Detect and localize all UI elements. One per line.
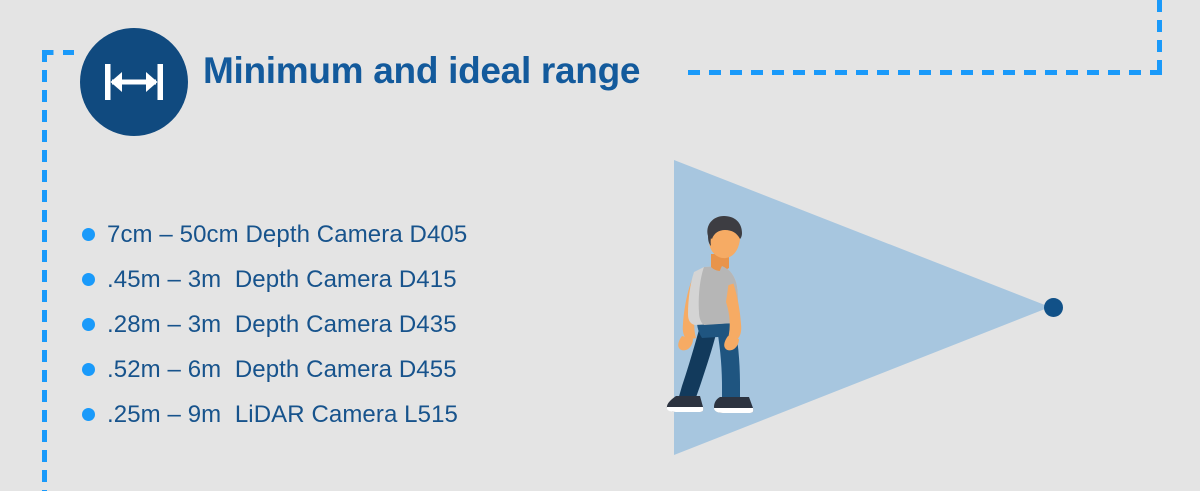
dashed-line-left: [42, 50, 47, 491]
device-name: Depth Camera D415: [235, 266, 457, 293]
range-entry: .45m – 3m Depth Camera D415: [107, 266, 457, 294]
infographic-canvas: Minimum and ideal range 7cm – 50cm Depth…: [0, 0, 1200, 491]
bullet-dot-icon: [82, 318, 95, 331]
range-entry: .52m – 6m Depth Camera D455: [107, 356, 457, 384]
range-entry: 7cm – 50cm Depth Camera D405: [107, 221, 467, 249]
range-entry: .28m – 3m Depth Camera D435: [107, 311, 457, 339]
dashed-line-right-vertical: [1157, 0, 1162, 75]
bullet-dot-icon: [82, 273, 95, 286]
walking-person: [664, 216, 768, 420]
sensor-point: [1044, 298, 1063, 317]
bullet-dot-icon: [82, 363, 95, 376]
range-value: .28m – 3m: [107, 311, 221, 338]
list-item: 7cm – 50cm Depth Camera D405: [82, 212, 467, 257]
device-name: LiDAR Camera L515: [235, 401, 458, 428]
bullet-dot-icon: [82, 408, 95, 421]
list-item: .28m – 3m Depth Camera D435: [82, 302, 467, 347]
range-value: .45m – 3m: [107, 266, 221, 293]
range-value: .52m – 6m: [107, 356, 221, 383]
dashed-line-title-right: [688, 70, 1162, 75]
page-title: Minimum and ideal range: [203, 50, 640, 92]
range-value: 7cm – 50cm: [107, 221, 239, 248]
range-list: 7cm – 50cm Depth Camera D405 .45m – 3m D…: [82, 212, 467, 437]
device-name: Depth Camera D435: [235, 311, 457, 338]
device-name: Depth Camera D455: [235, 356, 457, 383]
list-item: .52m – 6m Depth Camera D455: [82, 347, 467, 392]
device-name: Depth Camera D405: [246, 221, 468, 248]
bullet-dot-icon: [82, 228, 95, 241]
list-item: .25m – 9m LiDAR Camera L515: [82, 392, 467, 437]
range-entry: .25m – 9m LiDAR Camera L515: [107, 401, 458, 429]
range-value: .25m – 9m: [107, 401, 221, 428]
measure-range-icon: [80, 28, 188, 136]
list-item: .45m – 3m Depth Camera D415: [82, 257, 467, 302]
